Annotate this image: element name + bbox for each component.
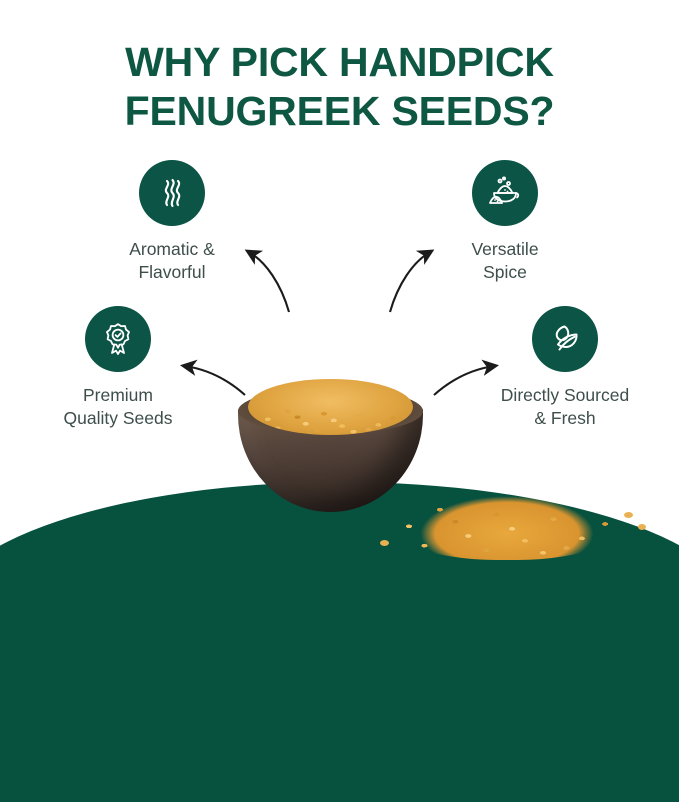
feature-aromatic[interactable]: Aromatic & Flavorful <box>72 160 272 284</box>
title-line-2: FENUGREEK SEEDS? <box>0 87 679 136</box>
feature-versatile-label: Versatile Spice <box>405 238 605 284</box>
stray-seed <box>638 524 646 530</box>
feature-versatile[interactable]: Versatile Spice <box>405 160 605 284</box>
aroma-steam-icon <box>139 160 205 226</box>
page-title: WHY PICK HANDPICK FENUGREEK SEEDS? <box>0 38 679 136</box>
stray-seed <box>380 540 389 546</box>
feature-premium-label: Premium Quality Seeds <box>18 384 218 430</box>
feature-aromatic-label: Aromatic & Flavorful <box>72 238 272 284</box>
leaf-icon <box>532 306 598 372</box>
wooden-bowl <box>238 372 423 512</box>
award-badge-icon <box>85 306 151 372</box>
infographic-canvas: WHY PICK HANDPICK FENUGREEK SEEDS? Aroma… <box>0 0 679 679</box>
feature-premium[interactable]: Premium Quality Seeds <box>18 306 218 430</box>
spice-bowl-icon <box>472 160 538 226</box>
product-image <box>228 372 648 592</box>
seeds-in-bowl <box>248 379 413 435</box>
title-line-1: WHY PICK HANDPICK <box>0 38 679 87</box>
stray-seed <box>624 512 633 518</box>
